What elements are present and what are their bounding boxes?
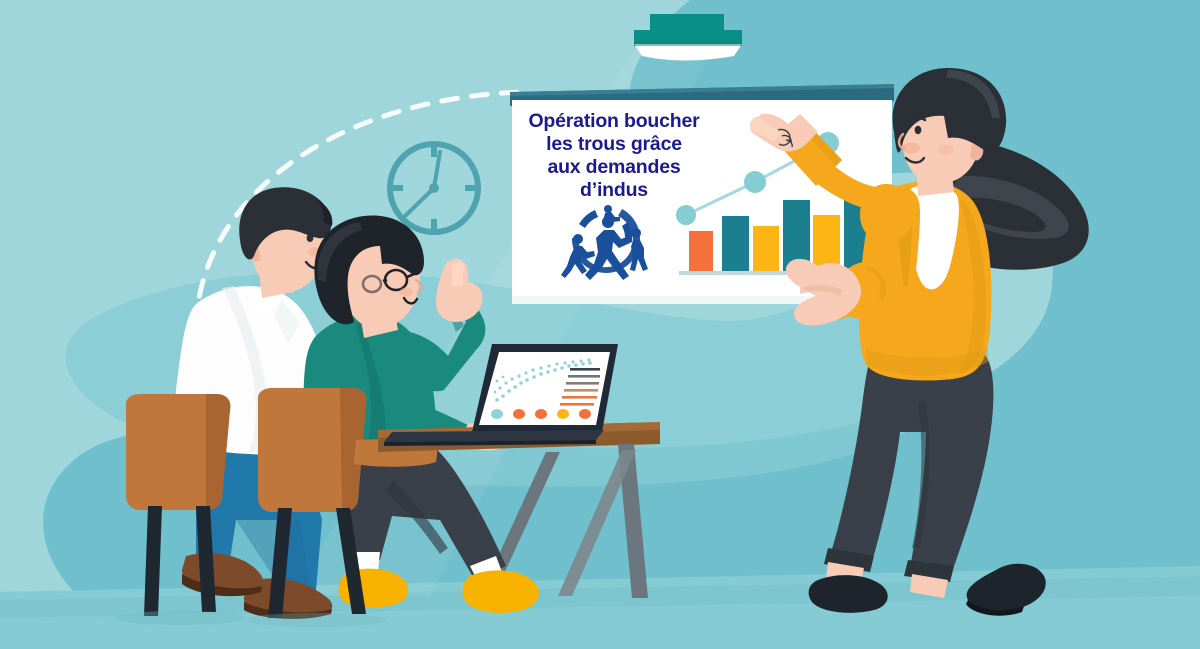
presenter-upper-arm-amber: [860, 184, 914, 242]
illustration-scene: Opération boucher les trous grâce aux de…: [0, 0, 1200, 649]
man-eye: [307, 234, 314, 242]
bar-2: [722, 216, 749, 272]
bar-3: [753, 226, 779, 272]
bar-1: [689, 231, 713, 272]
trend-dot-1: [676, 205, 696, 225]
presenter-eye: [915, 126, 922, 134]
scene-svg: [0, 0, 1200, 649]
laptop-base: [384, 430, 604, 442]
trend-dot-2: [744, 171, 766, 193]
